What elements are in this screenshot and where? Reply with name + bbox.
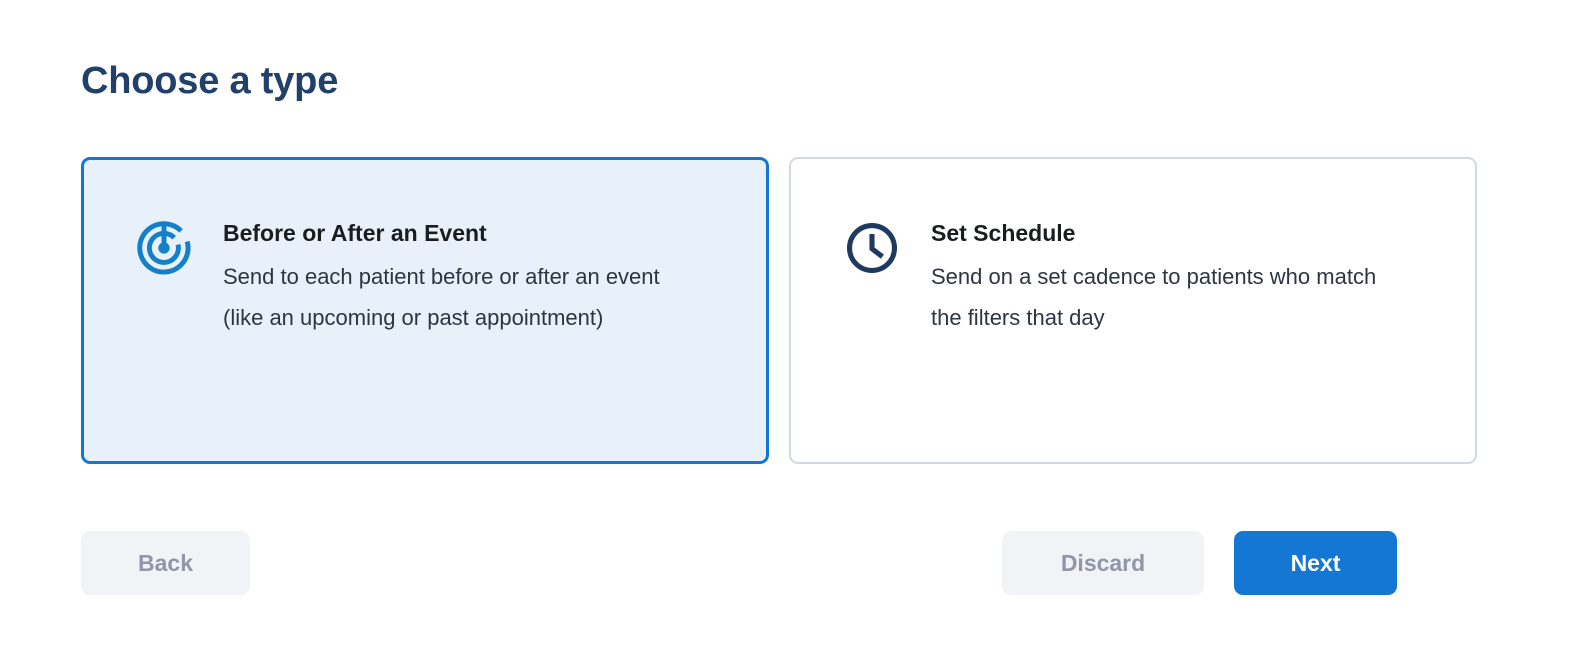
card-text-block: Before or After an Event Send to each pa… <box>223 217 727 338</box>
card-description: Send on a set cadence to patients who ma… <box>931 256 1381 338</box>
card-text-block: Set Schedule Send on a set cadence to pa… <box>931 217 1435 338</box>
wizard-footer: Back Discard Next <box>81 531 1477 595</box>
card-title: Before or After an Event <box>223 218 727 248</box>
choose-type-screen: Choose a type Before or After an Event S… <box>0 0 1576 662</box>
track-changes-icon <box>135 219 193 277</box>
type-option-card-set-schedule[interactable]: Set Schedule Send on a set cadence to pa… <box>789 157 1477 464</box>
type-option-list: Before or After an Event Send to each pa… <box>81 157 1477 464</box>
clock-icon <box>843 219 901 277</box>
page-title: Choose a type <box>81 58 338 104</box>
discard-button[interactable]: Discard <box>1002 531 1204 595</box>
card-description: Send to each patient before or after an … <box>223 256 693 338</box>
back-button[interactable]: Back <box>81 531 250 595</box>
next-button[interactable]: Next <box>1234 531 1397 595</box>
card-title: Set Schedule <box>931 218 1435 248</box>
type-option-card-before-or-after-an-event[interactable]: Before or After an Event Send to each pa… <box>81 157 769 464</box>
